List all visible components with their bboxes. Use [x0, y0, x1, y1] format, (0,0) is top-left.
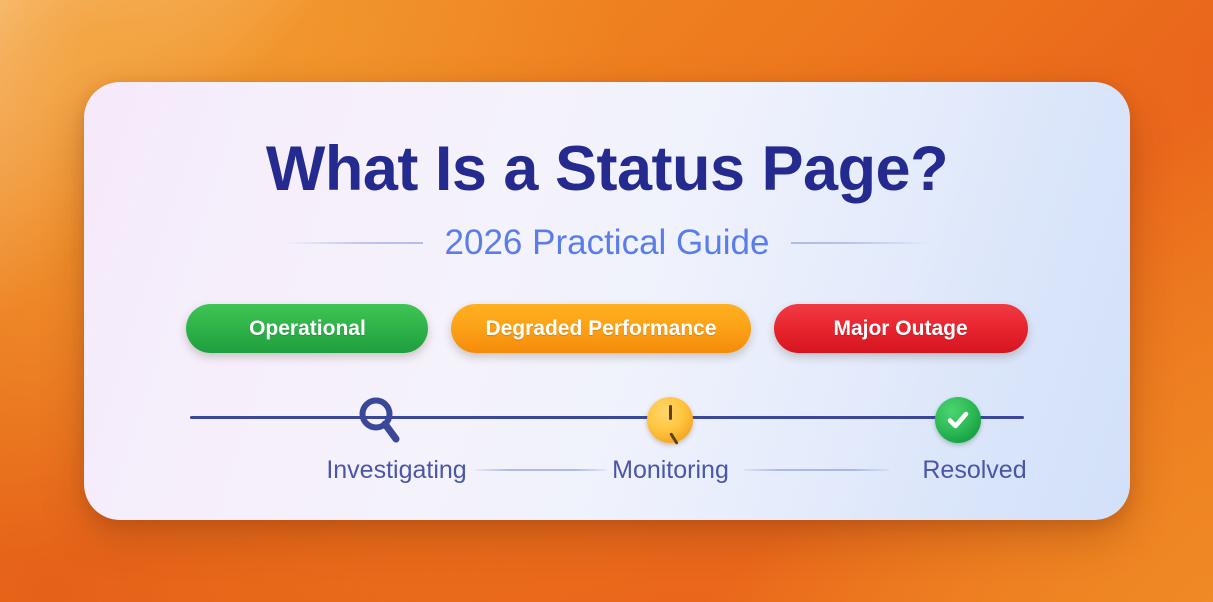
status-pill-major-outage[interactable]: Major Outage: [774, 304, 1028, 353]
timeline-label-resolved: Resolved: [822, 452, 1127, 488]
magnifier-icon: [356, 395, 402, 445]
check-circle-icon: [935, 397, 981, 443]
status-page-card: What Is a Status Page? 2026 Practical Gu…: [84, 82, 1130, 520]
page-subtitle: 2026 Practical Guide: [445, 225, 770, 260]
incident-timeline: Investigating Monitoring Resolved: [84, 394, 1130, 494]
timeline-node-monitoring[interactable]: [644, 394, 696, 446]
subtitle-rule-left: [283, 242, 423, 244]
timeline-labels: Investigating Monitoring Resolved: [84, 452, 1130, 488]
subtitle-row: 2026 Practical Guide: [84, 225, 1130, 260]
timeline-nodes: [84, 394, 1130, 446]
timeline-node-resolved[interactable]: [932, 394, 984, 446]
timeline-node-investigating[interactable]: [353, 394, 405, 446]
status-pill-operational[interactable]: Operational: [186, 304, 428, 353]
clock-icon: [647, 397, 693, 443]
status-pill-group: Operational Degraded Performance Major O…: [84, 304, 1130, 353]
page-title: What Is a Status Page?: [84, 138, 1130, 201]
status-pill-degraded-performance[interactable]: Degraded Performance: [451, 304, 750, 353]
subtitle-rule-right: [791, 242, 931, 244]
